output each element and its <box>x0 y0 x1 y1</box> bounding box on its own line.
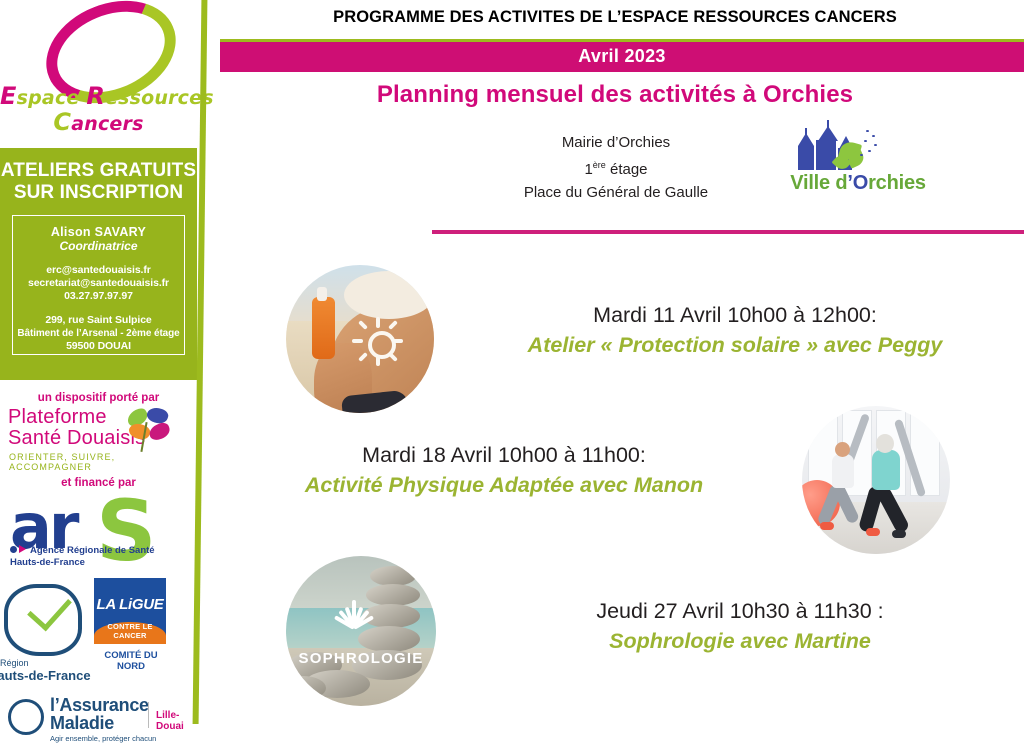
ville-word-1: Ville d <box>790 172 847 194</box>
main-content: PROGRAMME DES ACTIVITES DE L’ESPACE RESS… <box>206 0 1024 724</box>
event-2-what: Activité Physique Adaptée avec Manon <box>224 470 784 500</box>
event-3-what: Sophrologie avec Martine <box>456 626 1024 656</box>
programme-title: PROGRAMME DES ACTIVITES DE L’ESPACE RESS… <box>206 8 1024 27</box>
sun-protection-photo <box>286 265 434 413</box>
event-1-when: Mardi 11 Avril 10h00 à 12h00: <box>446 300 1024 330</box>
venue-address: Mairie d’Orchies 1ère étage Place du Gén… <box>506 131 726 204</box>
contact-email-1[interactable]: erc@santedouaisis.fr <box>13 264 184 277</box>
carried-by-caption: un dispositif porté par <box>0 392 197 404</box>
contact-address: 299, rue Saint Sulpice Bâtiment de l’Ars… <box>13 314 184 353</box>
contact-email-2[interactable]: secretariat@santedouaisis.fr <box>13 277 184 290</box>
event-1-what: Atelier « Protection solaire » avec Pegg… <box>446 330 1024 360</box>
ars-arrow-icon <box>19 545 26 553</box>
erc-logo-line2: Cancers <box>0 108 197 136</box>
la-ligue-logo: LA LiGUE CONTRE LE CANCER COMITÉ DU NORD <box>94 578 174 688</box>
planning-title: Planning mensuel des activités à Orchies <box>206 81 1024 109</box>
assurance-line1: l’Assurance <box>50 696 149 714</box>
ars-s-mark: S <box>96 482 157 580</box>
coordinator-role: Coordinatrice <box>13 239 184 253</box>
ville-dorchies-wordmark: Ville d’Orchies <box>778 172 938 195</box>
venue-floor-number: 1 <box>584 161 592 178</box>
event-2: Mardi 18 Avril 10h00 à 11h00: Activité P… <box>224 440 784 500</box>
sophrologie-overlay-text: SOPHROLOGIE <box>286 650 436 667</box>
address-line-2: Bâtiment de l’Arsenal - 2ème étage <box>13 327 184 340</box>
workshops-heading-line2: SUR INSCRIPTION <box>0 182 197 204</box>
assurance-maladie-logo: l’Assurance Maladie Agir ensemble, proté… <box>4 696 194 746</box>
ligue-card: LA LiGUE CONTRE LE CANCER <box>94 578 166 644</box>
assurance-line2: Maladie <box>50 714 149 732</box>
month-banner: Avril 2023 <box>220 39 1024 72</box>
workshops-heading-line1: ATELIERS GRATUITS <box>0 160 197 182</box>
ars-dot-icon <box>10 546 17 553</box>
town-hall-icon <box>796 128 858 172</box>
venue-floor-word: étage <box>606 161 648 178</box>
region-label-1: Région <box>0 658 29 668</box>
ville-word-3: rchies <box>868 172 926 194</box>
erc-logo-line1: Espace Ressources <box>0 82 197 110</box>
erc-logo: Espace Ressources Cancers <box>0 0 197 148</box>
ligue-title: LA LiGUE <box>94 596 166 613</box>
month-label: Avril 2023 <box>220 42 1024 70</box>
plateforme-sante-douaisis-logo: un dispositif porté par Plateforme Santé… <box>0 392 197 472</box>
event-2-when: Mardi 18 Avril 10h00 à 11h00: <box>224 440 784 470</box>
sophrologie-photo: SOPHROLOGIE <box>286 556 436 706</box>
workshops-heading: ATELIERS GRATUITS SUR INSCRIPTION <box>0 160 197 204</box>
divider <box>148 702 149 728</box>
venue-line-2: 1ère étage <box>506 154 726 181</box>
assurance-emblem-icon <box>8 699 44 735</box>
event-1: Mardi 11 Avril 10h00 à 12h00: Atelier « … <box>446 300 1024 360</box>
section-divider <box>432 230 1024 234</box>
region-label-2: Hauts-de-France <box>0 668 91 683</box>
ligue-comite: COMITÉ DU NORD <box>91 650 171 672</box>
assurance-name: l’Assurance Maladie <box>50 696 149 732</box>
ville-word-2: ’O <box>847 172 868 194</box>
assurance-tagline: Agir ensemble, protéger chacun <box>50 734 156 743</box>
plateforme-tagline: ORIENTER, SUIVRE, ACCOMPAGNER <box>0 452 197 472</box>
ville-dorchies-logo: Ville d’Orchies <box>778 128 938 200</box>
event-3-when: Jeudi 27 Avril 10h30 à 11h30 : <box>456 596 1024 626</box>
address-line-3: 59500 DOUAI <box>13 340 184 353</box>
assurance-city: Lille-Douai <box>156 710 194 732</box>
free-workshops-panel: ATELIERS GRATUITS SUR INSCRIPTION Alison… <box>0 148 197 380</box>
sophrologie-fan-icon <box>330 588 378 628</box>
contact-channels: erc@santedouaisis.fr secretariat@santedo… <box>13 264 184 303</box>
sidebar: Espace Ressources Cancers ATELIERS GRATU… <box>0 0 200 724</box>
ligue-subtitle: CONTRE LE CANCER <box>94 622 166 640</box>
region-hauts-de-france-logo: Région Hauts-de-France <box>0 580 96 690</box>
ars-subtitle-1: Agence Régionale de Santé <box>30 545 155 556</box>
venue-line-1: Mairie d’Orchies <box>506 131 726 154</box>
address-line-1: 299, rue Saint Sulpice <box>13 314 184 327</box>
contact-box: Alison SAVARY Coordinatrice erc@santedou… <box>12 215 185 355</box>
venue-line-3: Place du Général de Gaulle <box>506 181 726 204</box>
contact-phone[interactable]: 03.27.97.97.97 <box>13 290 184 303</box>
coordinator-name: Alison SAVARY <box>13 225 184 239</box>
erc-swoosh-icon <box>44 4 156 78</box>
adapted-physical-activity-photo <box>802 406 950 554</box>
sponsors-area: un dispositif porté par Plateforme Santé… <box>0 380 197 724</box>
event-3: Jeudi 27 Avril 10h30 à 11h30 : Sophrolog… <box>456 596 1024 656</box>
venue-floor-suffix: ère <box>593 160 606 170</box>
ars-logo: ar S Agence Régionale de Santé Hauts-de-… <box>8 494 168 572</box>
ars-subtitle-2: Hauts-de-France <box>10 557 85 568</box>
butterfly-icon <box>125 408 181 452</box>
